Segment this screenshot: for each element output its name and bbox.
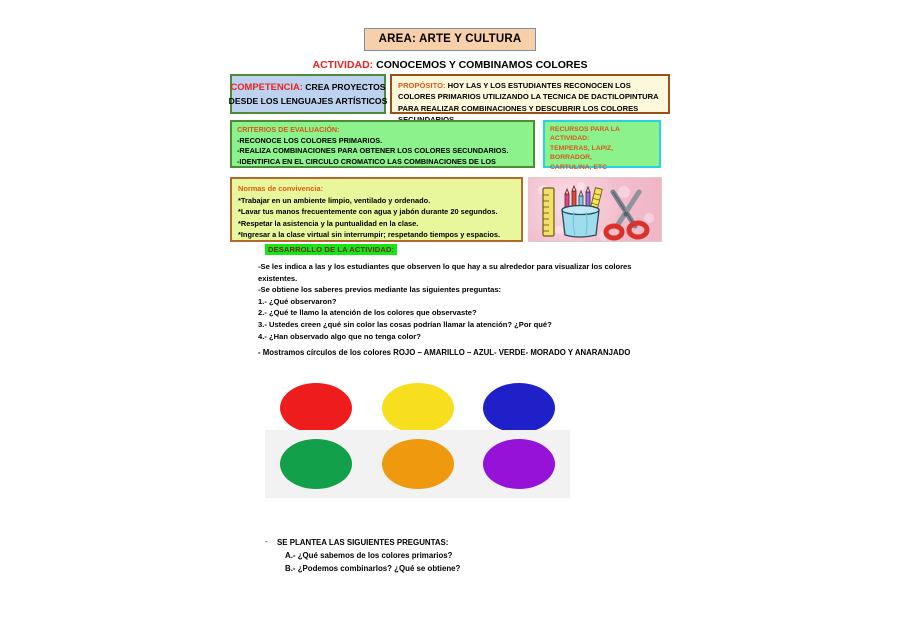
ruler-icon bbox=[543, 188, 554, 236]
desarrollo-paragraph: existentes. bbox=[258, 273, 678, 285]
circle-cell bbox=[367, 439, 469, 489]
color-circle-morado bbox=[483, 439, 555, 489]
desarrollo-question: 4.- ¿Han observado algo que no tenga col… bbox=[258, 331, 678, 343]
desarrollo-heading: DESARROLLO DE LA ACTIVIDAD: bbox=[265, 244, 397, 255]
color-circle-amarillo bbox=[382, 383, 454, 433]
normas-item: *Respetar la asistencia y la puntualidad… bbox=[238, 218, 515, 230]
normas-item: *Lavar tus manos frecuentemente con agua… bbox=[238, 206, 515, 218]
proposito-text: PROPÓSITO: HOY LAS Y LOS ESTUDIANTES REC… bbox=[398, 80, 662, 125]
activity-value: CONOCEMOS Y COMBINAMOS COLORES bbox=[373, 59, 587, 71]
desarrollo-question: 3.- Ustedes creen ¿qué sin color las cos… bbox=[258, 319, 678, 331]
desarrollo-paragraph: -Se les indica a las y los estudiantes q… bbox=[258, 261, 678, 273]
normas-convivencia-box: Normas de convivencia: *Trabajar en un a… bbox=[230, 177, 523, 242]
desarrollo-paragraph: -Se obtiene los saberes previos mediante… bbox=[258, 284, 678, 296]
desarrollo-body: -Se les indica a las y los estudiantes q… bbox=[258, 261, 678, 342]
page-title: AREA: ARTE Y CULTURA bbox=[364, 28, 537, 51]
circle-cell bbox=[265, 439, 367, 489]
circle-cell bbox=[468, 439, 570, 489]
competencia-keyword: COMPETENCIA: bbox=[230, 81, 302, 92]
desarrollo-question: 2.- ¿Qué te llamo la atención de los col… bbox=[258, 307, 678, 319]
recursos-line: TEMPERAS, LAPIZ, BORRADOR, bbox=[550, 144, 654, 163]
circle-cell bbox=[367, 383, 469, 433]
competencia-line-1: COMPETENCIA: CREA PROYECTOS bbox=[230, 80, 385, 94]
color-circle-azul bbox=[483, 383, 555, 433]
criterios-box: CRITERIOS DE EVALUACIÓN: -RECONOCE LOS C… bbox=[230, 120, 535, 168]
supplies-illustration-icon bbox=[529, 178, 662, 242]
recursos-line: ACTIVIDAD: bbox=[550, 134, 654, 143]
preguntas-title: SE PLANTEA LAS SIGUIENTES PREGUNTAS: bbox=[277, 536, 637, 549]
preguntas-bullet: - bbox=[265, 537, 268, 546]
criterios-item: -REALIZA COMBINACIONES PARA OBTENER LOS … bbox=[237, 146, 528, 157]
criterios-title: CRITERIOS DE EVALUACIÓN: bbox=[237, 125, 528, 136]
recursos-line: CARTULINA, ETC bbox=[550, 163, 654, 172]
activity-line: ACTIVIDAD: CONOCEMOS Y COMBINAMOS COLORE… bbox=[0, 59, 900, 71]
pencil-cup-icon bbox=[562, 206, 599, 238]
proposito-keyword: PROPÓSITO: bbox=[398, 81, 446, 90]
color-circles-row-primary bbox=[265, 378, 570, 438]
normas-item: *Trabajar en un ambiente limpio, ventila… bbox=[238, 195, 515, 207]
color-circle-verde bbox=[280, 439, 352, 489]
document-page: AREA: ARTE Y CULTURA ACTIVIDAD: CONOCEMO… bbox=[0, 0, 900, 640]
competencia-box: COMPETENCIA: CREA PROYECTOS DESDE LOS LE… bbox=[230, 74, 386, 114]
criterios-item: -RECONOCE LOS COLORES PRIMARIOS. bbox=[237, 136, 528, 147]
preguntas-item: A.- ¿Qué sabemos de los colores primario… bbox=[277, 549, 637, 562]
recursos-line: RECURSOS PARA LA bbox=[550, 125, 654, 134]
color-circles-row-secondary bbox=[265, 430, 570, 498]
color-circle-anaranjado bbox=[382, 439, 454, 489]
circle-cell bbox=[468, 383, 570, 433]
competencia-line-1-rest: CREA PROYECTOS bbox=[303, 82, 386, 92]
school-supplies-image bbox=[528, 177, 662, 242]
normas-item: *Ingresar a la clase virtual sin interru… bbox=[238, 229, 515, 241]
preguntas-item: B.- ¿Podemos combinarlos? ¿Qué se obtien… bbox=[277, 562, 637, 575]
proposito-box: PROPÓSITO: HOY LAS Y LOS ESTUDIANTES REC… bbox=[390, 74, 670, 114]
normas-title: Normas de convivencia: bbox=[238, 183, 515, 195]
circle-cell bbox=[265, 383, 367, 433]
color-circles-panel bbox=[265, 378, 570, 498]
competencia-line-2: DESDE LOS LENGUAJES ARTÍSTICOS bbox=[229, 94, 388, 108]
criterios-item: -IDENTIFICA EN EL CIRCULO CROMATICO LAS … bbox=[237, 157, 528, 169]
activity-label: ACTIVIDAD: bbox=[313, 59, 374, 71]
recursos-box: RECURSOS PARA LA ACTIVIDAD: TEMPERAS, LA… bbox=[543, 120, 661, 168]
scissors-icon bbox=[606, 192, 647, 238]
preguntas-block: - SE PLANTEA LAS SIGUIENTES PREGUNTAS: A… bbox=[277, 536, 637, 575]
circles-intro-text: - Mostramos círculos de los colores ROJO… bbox=[258, 348, 630, 357]
desarrollo-question: 1.- ¿Qué observaron? bbox=[258, 296, 678, 308]
area-title-container: AREA: ARTE Y CULTURA bbox=[0, 28, 900, 51]
color-circle-rojo bbox=[280, 383, 352, 433]
